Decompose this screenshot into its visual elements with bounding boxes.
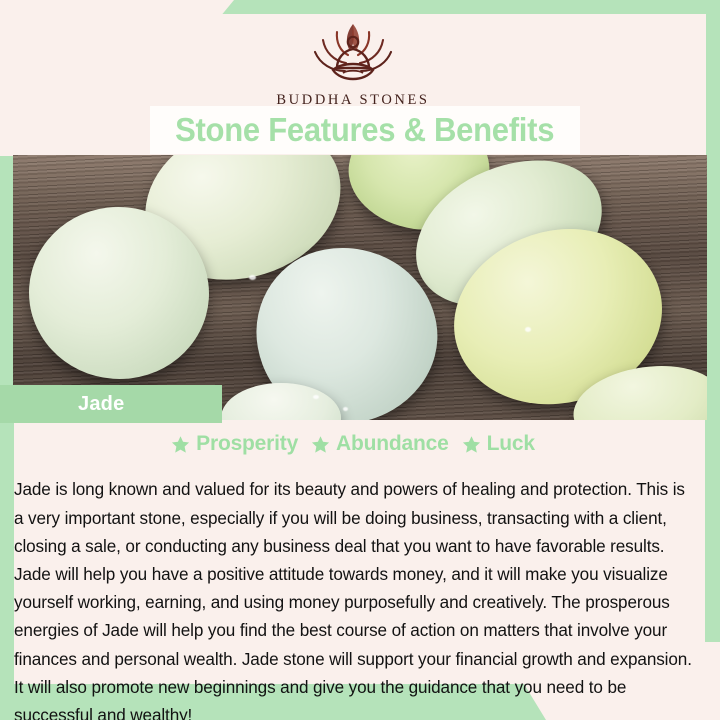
benefits-row: Prosperity Abundance Luck xyxy=(0,432,706,456)
benefit-label: Prosperity xyxy=(196,432,298,456)
specular-highlight xyxy=(249,275,256,280)
decorative-green-right-band xyxy=(705,0,720,642)
star-icon xyxy=(311,435,330,454)
specular-highlight xyxy=(343,407,348,411)
stone-photo-image xyxy=(13,155,707,420)
benefit-item: Luck xyxy=(462,432,535,456)
stone-benefits-poster: BUDDHA STONES Stone Features & Benefits … xyxy=(0,0,720,720)
page-title: Stone Features & Benefits xyxy=(175,111,554,149)
title-banner: Stone Features & Benefits xyxy=(150,106,580,154)
star-icon xyxy=(171,435,190,454)
star-icon xyxy=(462,435,481,454)
benefit-label: Luck xyxy=(487,432,535,456)
benefit-item: Prosperity xyxy=(171,432,298,456)
brand-logo: BUDDHA STONES xyxy=(0,18,706,109)
lotus-meditation-icon xyxy=(293,18,413,90)
stone-name: Jade xyxy=(78,393,124,416)
benefit-label: Abundance xyxy=(336,432,449,456)
stone-name-banner: Jade xyxy=(0,385,222,423)
stone-description: Jade is long known and valued for its be… xyxy=(14,475,694,720)
specular-highlight xyxy=(525,327,531,332)
specular-highlight xyxy=(313,395,319,399)
stone-photo xyxy=(13,155,707,420)
benefit-item: Abundance xyxy=(311,432,449,456)
